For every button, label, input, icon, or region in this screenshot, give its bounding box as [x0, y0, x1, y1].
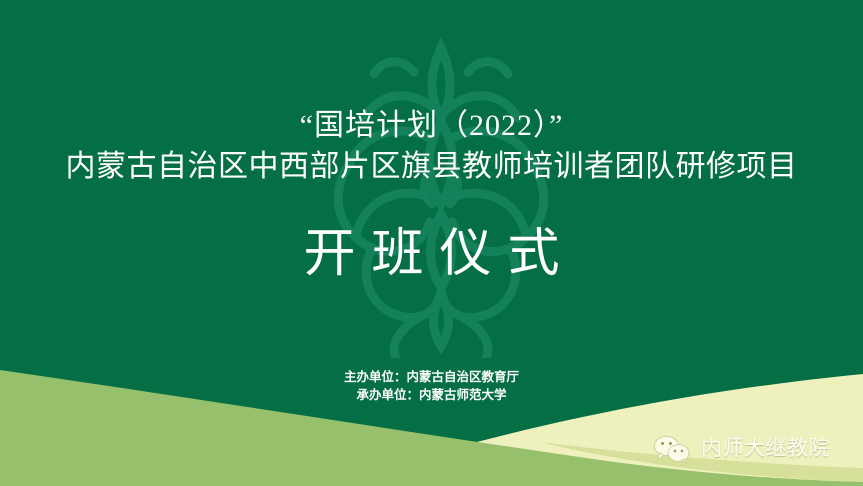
undertaking-organization: 承办单位：内蒙古师范大学 [0, 386, 863, 404]
organizer-block: 主办单位：内蒙古自治区教育厅 承办单位：内蒙古师范大学 [0, 368, 863, 404]
wechat-icon [652, 434, 692, 464]
title-line-1: “国培计划（2022）” [0, 106, 863, 146]
presentation-slide: “国培计划（2022）” 内蒙古自治区中西部片区旗县教师培训者团队研修项目 开班… [0, 0, 863, 486]
main-heading: 开班仪式 [0, 224, 863, 286]
host-organization: 主办单位：内蒙古自治区教育厅 [0, 368, 863, 386]
slide-title: “国培计划（2022）” 内蒙古自治区中西部片区旗县教师培训者团队研修项目 [0, 106, 863, 188]
watermark-label: 内师大继教院 [701, 437, 830, 461]
title-line-2: 内蒙古自治区中西部片区旗县教师培训者团队研修项目 [0, 146, 863, 188]
wechat-watermark: 内师大继教院 [652, 434, 830, 464]
floral-ornament-icon [318, 18, 564, 358]
